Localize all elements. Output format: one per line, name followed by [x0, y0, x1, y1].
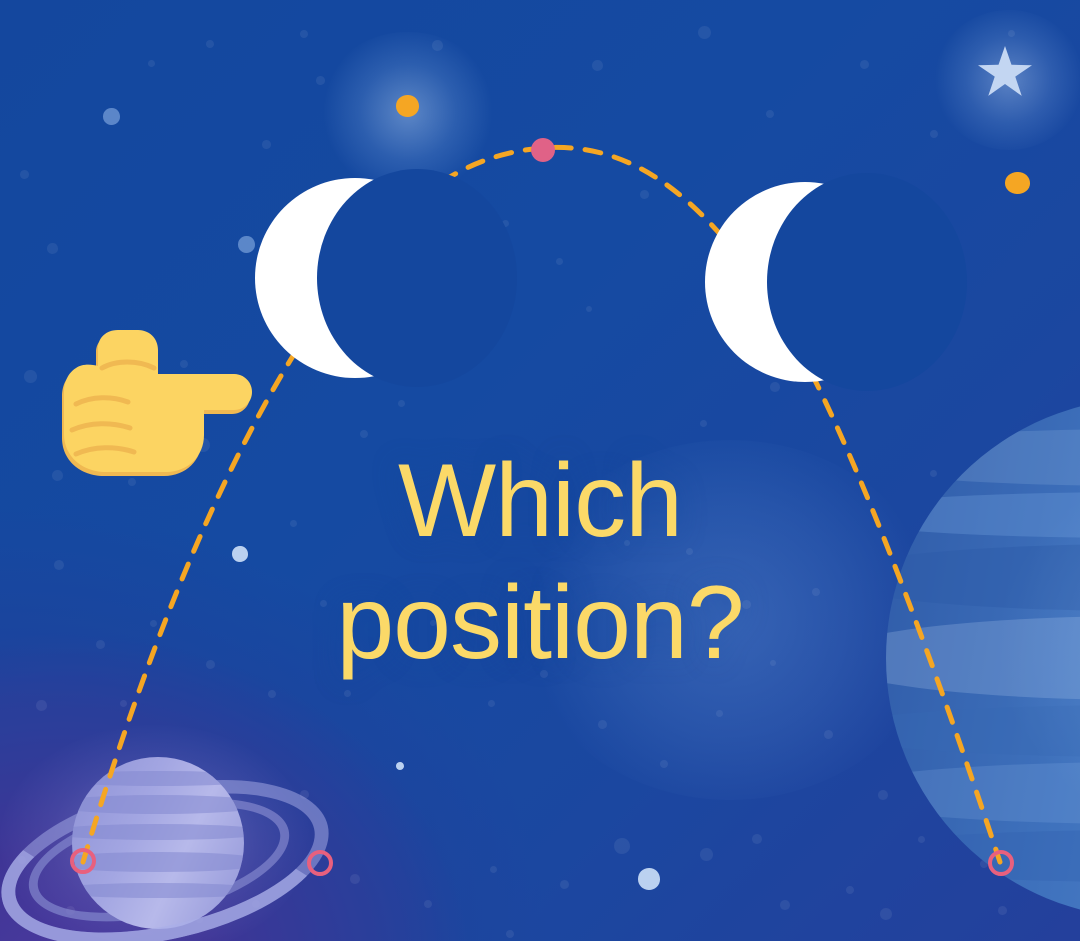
marker-lower-left[interactable] [307, 850, 333, 876]
star-speck [700, 420, 707, 427]
star-speck [344, 690, 351, 697]
star-speck [398, 400, 405, 407]
star-speck [716, 710, 723, 717]
orange-dot-icon [396, 95, 419, 117]
star-speck [766, 110, 774, 118]
star-speck [780, 900, 790, 910]
star-speck [103, 108, 120, 125]
star-speck [36, 700, 47, 711]
page-title: Which position? [0, 440, 1080, 684]
star-speck [638, 868, 660, 890]
star-speck [614, 838, 630, 854]
star-speck [120, 700, 127, 707]
star-speck [930, 130, 938, 138]
star-speck [316, 76, 325, 85]
star-speck [238, 236, 255, 253]
star-speck [560, 880, 569, 889]
star-speck [640, 190, 649, 199]
moon-left[interactable] [255, 178, 455, 378]
star-speck [698, 26, 711, 39]
star-speck [268, 690, 276, 698]
star-speck [300, 30, 308, 38]
star-speck [148, 60, 155, 67]
star-speck [432, 40, 443, 51]
star-speck [592, 60, 603, 71]
star-speck [20, 170, 29, 179]
planet-saturn [0, 735, 320, 941]
star-speck [24, 370, 37, 383]
star-speck [490, 866, 497, 873]
star-speck [396, 762, 404, 770]
moon-right[interactable] [705, 182, 905, 382]
star-speck [47, 243, 58, 254]
star-speck [824, 730, 833, 739]
orange-dot-icon [1005, 172, 1030, 194]
star-speck [1008, 30, 1015, 37]
star-speck [860, 60, 869, 69]
star-speck [506, 930, 514, 938]
star-speck [700, 848, 713, 861]
marker-bottom-left[interactable] [70, 848, 96, 874]
star-speck [586, 306, 592, 312]
star-speck [262, 140, 271, 149]
star-speck [424, 900, 432, 908]
star-speck [488, 700, 495, 707]
star-speck [206, 40, 214, 48]
space-scene: Which position? [0, 0, 1080, 941]
star-speck [752, 834, 762, 844]
star-speck [770, 382, 780, 392]
marker-bottom-right[interactable] [988, 850, 1014, 876]
star-speck [360, 430, 368, 438]
marker-apex[interactable] [531, 138, 555, 162]
moon-shadow [767, 173, 967, 391]
star-speck [598, 720, 607, 729]
star-speck [660, 760, 668, 768]
moon-shadow [317, 169, 517, 387]
star-speck [846, 886, 854, 894]
star-speck [350, 874, 360, 884]
star-speck [556, 258, 563, 265]
